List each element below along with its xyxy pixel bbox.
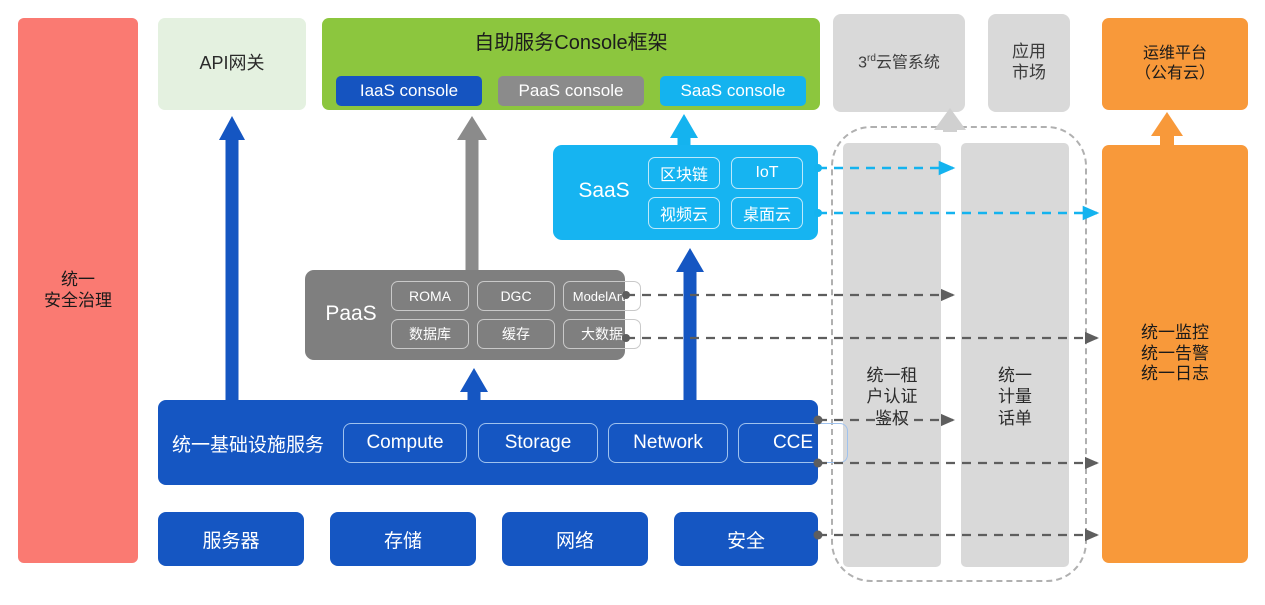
infrastructure-services-bar: 统一基础设施服务 Compute Storage Network CCE bbox=[158, 400, 818, 485]
paas-service-cache[interactable]: 缓存 bbox=[477, 319, 555, 349]
saas-service-video-cloud[interactable]: 视频云 bbox=[648, 197, 720, 229]
hardware-box-network-label: 网络 bbox=[556, 526, 594, 553]
third-party-superscript: rd bbox=[867, 53, 876, 64]
saas-layer-box: SaaS 区块链 IoT 视频云 桌面云 bbox=[553, 145, 818, 240]
arrow-paas-to-console bbox=[457, 116, 487, 270]
paas-service-roma[interactable]: ROMA bbox=[391, 281, 469, 311]
ops-platform-label: 运维平台（公有云） bbox=[1135, 44, 1215, 83]
paas-service-database-label: 数据库 bbox=[409, 324, 451, 344]
saas-service-blockchain[interactable]: 区块链 bbox=[648, 157, 720, 189]
arrow-to-ops-platform bbox=[1151, 112, 1183, 145]
hardware-box-security[interactable]: 安全 bbox=[674, 512, 818, 566]
paas-service-dgc-label: DGC bbox=[500, 288, 531, 304]
iaas-console-pill[interactable]: IaaS console bbox=[336, 76, 482, 106]
saas-service-blockchain-label: 区块链 bbox=[660, 161, 708, 185]
security-governance-panel: 统一安全治理 bbox=[18, 18, 138, 563]
infra-service-storage-label: Storage bbox=[505, 432, 572, 454]
hardware-box-storage-label: 存储 bbox=[384, 526, 422, 553]
saas-service-iot[interactable]: IoT bbox=[731, 157, 803, 189]
third-party-cloud-mgmt-label: 3rd云管系统 bbox=[858, 53, 940, 73]
paas-service-modelarts[interactable]: ModelArts bbox=[563, 281, 641, 311]
hardware-box-server[interactable]: 服务器 bbox=[158, 512, 304, 566]
paas-service-bigdata-label: 大数据 bbox=[581, 324, 623, 344]
paas-service-modelarts-label: ModelArts bbox=[573, 289, 632, 304]
arrow-saas-to-console bbox=[670, 114, 698, 145]
app-marketplace-box: 应用市场 bbox=[988, 14, 1070, 112]
security-governance-label: 统一安全治理 bbox=[44, 270, 112, 311]
paas-service-bigdata[interactable]: 大数据 bbox=[563, 319, 641, 349]
infra-service-compute-label: Compute bbox=[366, 432, 443, 454]
saas-console-pill[interactable]: SaaS console bbox=[660, 76, 806, 106]
paas-layer-box: PaaS ROMA DGC ModelArts 数据库 缓存 大数据 bbox=[305, 270, 625, 360]
infra-service-compute[interactable]: Compute bbox=[343, 423, 467, 463]
paas-service-roma-label: ROMA bbox=[409, 288, 451, 304]
infrastructure-services-label: 统一基础设施服务 bbox=[172, 430, 324, 457]
paas-service-cache-label: 缓存 bbox=[502, 324, 530, 344]
api-gateway-label: API网关 bbox=[199, 53, 264, 75]
arrow-infra-to-api-gateway bbox=[219, 116, 245, 400]
saas-service-desktop-cloud[interactable]: 桌面云 bbox=[731, 197, 803, 229]
unified-tenant-auth-label: 统一租户认证鉴权 bbox=[867, 365, 918, 429]
paas-service-dgc[interactable]: DGC bbox=[477, 281, 555, 311]
saas-console-label: SaaS console bbox=[681, 81, 786, 101]
ops-platform-box: 运维平台（公有云） bbox=[1102, 18, 1248, 110]
unified-metering-billing-bar: 统一计量话单 bbox=[961, 143, 1069, 567]
hardware-box-security-label: 安全 bbox=[727, 526, 765, 553]
saas-service-desktop-cloud-label: 桌面云 bbox=[743, 201, 791, 225]
hardware-box-storage[interactable]: 存储 bbox=[330, 512, 476, 566]
app-marketplace-label: 应用市场 bbox=[1012, 42, 1046, 83]
console-framework-title: 自助服务Console框架 bbox=[322, 26, 820, 55]
saas-layer-label: SaaS bbox=[565, 179, 643, 203]
hardware-box-server-label: 服务器 bbox=[202, 526, 259, 553]
architecture-diagram: 统一安全治理 API网关 自助服务Console框架 IaaS console … bbox=[0, 0, 1265, 605]
saas-service-video-cloud-label: 视频云 bbox=[660, 201, 708, 225]
paas-service-database[interactable]: 数据库 bbox=[391, 319, 469, 349]
unified-tenant-auth-bar: 统一租户认证鉴权 bbox=[843, 143, 941, 567]
infra-service-network[interactable]: Network bbox=[608, 423, 728, 463]
infra-service-network-label: Network bbox=[633, 432, 703, 454]
hardware-box-network[interactable]: 网络 bbox=[502, 512, 648, 566]
ops-monitoring-label: 统一监控统一告警统一日志 bbox=[1141, 323, 1209, 385]
third-party-rest: 云管系统 bbox=[876, 54, 940, 71]
saas-service-iot-label: IoT bbox=[755, 164, 778, 182]
api-gateway-box: API网关 bbox=[158, 18, 306, 110]
paas-layer-label: PaaS bbox=[315, 302, 387, 326]
paas-console-label: PaaS console bbox=[519, 81, 624, 101]
iaas-console-label: IaaS console bbox=[360, 81, 458, 101]
ops-monitoring-panel: 统一监控统一告警统一日志 bbox=[1102, 145, 1248, 563]
infra-service-storage[interactable]: Storage bbox=[478, 423, 598, 463]
console-framework-box: 自助服务Console框架 IaaS console PaaS console … bbox=[322, 18, 820, 110]
third-party-prefix: 3 bbox=[858, 54, 867, 71]
third-party-cloud-mgmt-box: 3rd云管系统 bbox=[833, 14, 965, 112]
paas-console-pill[interactable]: PaaS console bbox=[498, 76, 644, 106]
arrow-infra-to-paas bbox=[460, 368, 488, 400]
arrow-infra-to-saas bbox=[676, 248, 704, 400]
unified-metering-billing-label: 统一计量话单 bbox=[998, 365, 1032, 429]
infra-service-cce-label: CCE bbox=[773, 432, 813, 454]
infra-service-cce[interactable]: CCE bbox=[738, 423, 848, 463]
